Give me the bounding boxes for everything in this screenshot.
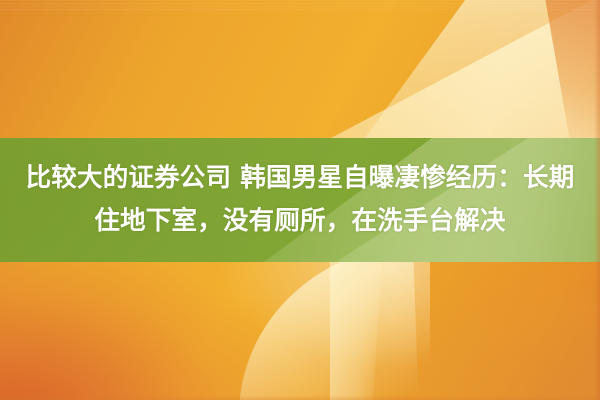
headline-line-2: 住地下室，没有厕所，在洗手台解决 — [94, 200, 505, 243]
news-banner: 比较大的证券公司 韩国男星自曝凄惨经历：长期 住地下室，没有厕所，在洗手台解决 — [0, 0, 600, 400]
light-wedge-bottom-edge — [330, 256, 382, 400]
headline-block: 比较大的证券公司 韩国男星自曝凄惨经历：长期 住地下室，没有厕所，在洗手台解决 — [0, 138, 600, 262]
headline-line-1: 比较大的证券公司 韩国男星自曝凄惨经历：长期 — [26, 157, 575, 200]
